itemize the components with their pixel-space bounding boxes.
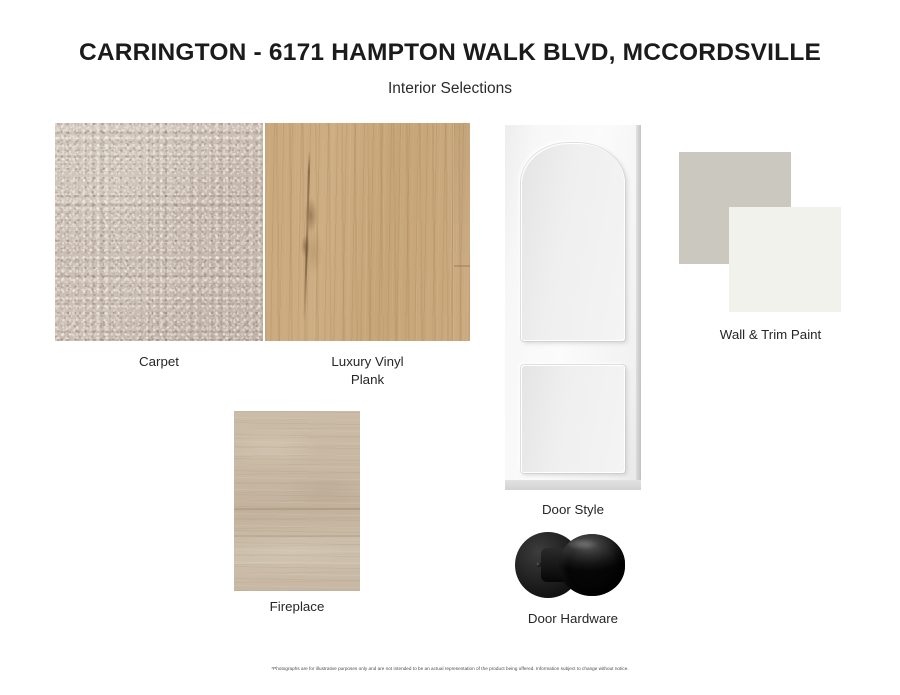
wall-trim-paint-label: Wall & Trim Paint — [679, 326, 862, 344]
page-header: CARRINGTON - 6171 HAMPTON WALK BLVD, MCC… — [0, 40, 900, 98]
fireplace-vein-3 — [234, 562, 360, 564]
page-title: CARRINGTON - 6171 HAMPTON WALK BLVD, MCC… — [0, 40, 900, 67]
lvp-knot — [287, 165, 333, 305]
trim-paint-chip[interactable] — [729, 207, 841, 312]
door-right-edge — [636, 125, 641, 490]
door-knob-head — [559, 534, 625, 596]
door-hardware-label: Door Hardware — [505, 610, 641, 628]
door-base — [505, 480, 641, 490]
carpet-swatch[interactable] — [55, 123, 263, 341]
carpet-label: Carpet — [55, 353, 263, 371]
fireplace-swatch[interactable] — [234, 411, 360, 591]
door-top-panel — [521, 143, 625, 341]
fireplace-vein-1 — [234, 508, 360, 510]
luxury-vinyl-plank-swatch[interactable] — [265, 123, 470, 341]
door-style-label: Door Style — [505, 501, 641, 519]
fireplace-vein-2 — [234, 535, 360, 537]
page-subtitle: Interior Selections — [0, 80, 900, 98]
lvp-horizontal-seam — [454, 265, 470, 267]
lvp-label-line-2: Plank — [265, 371, 470, 389]
door-hardware-image[interactable] — [515, 528, 627, 602]
door-style-image[interactable] — [505, 125, 641, 490]
luxury-vinyl-plank-label: Luxury Vinyl Plank — [265, 353, 470, 389]
lvp-label-line-1: Luxury Vinyl — [265, 353, 470, 371]
fireplace-label: Fireplace — [234, 598, 360, 616]
fireplace-stone-texture — [234, 411, 360, 591]
lvp-vertical-seam — [452, 123, 454, 341]
door-bottom-panel — [521, 365, 625, 473]
footer-disclaimer: *Photographs are for illustrative purpos… — [0, 666, 900, 671]
